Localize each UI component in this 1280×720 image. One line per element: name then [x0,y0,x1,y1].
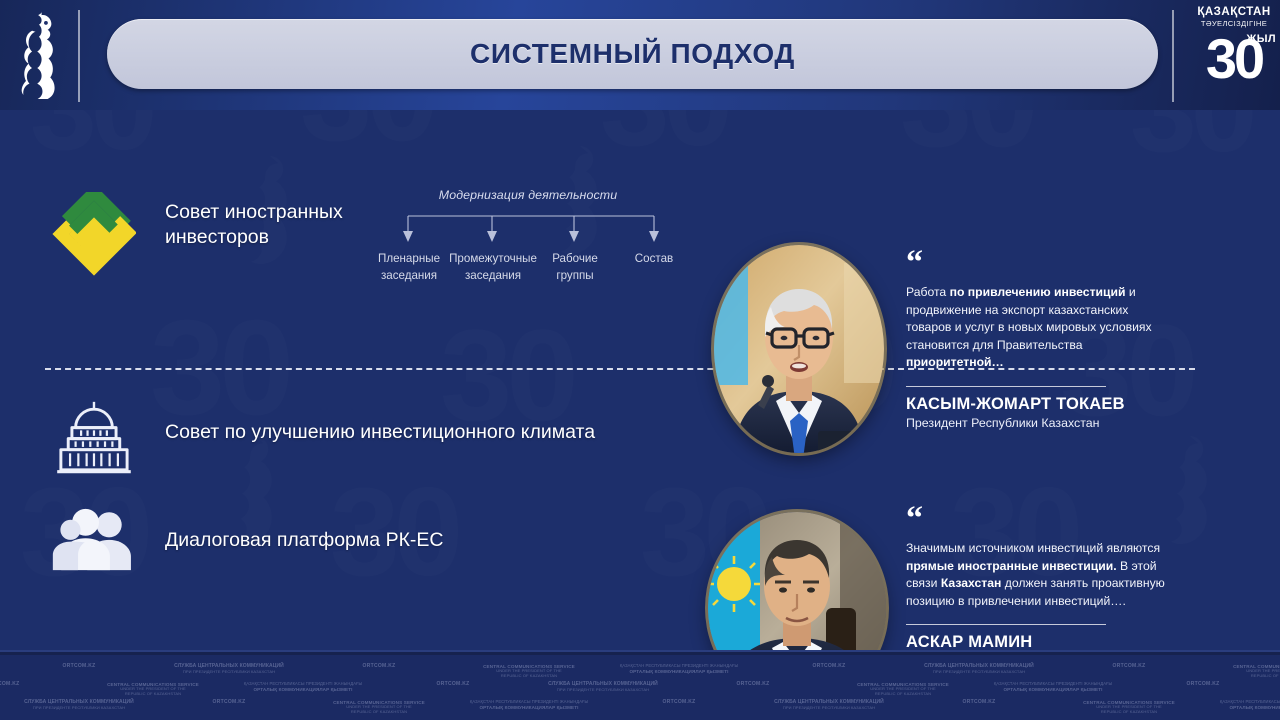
footer-watermark-cell: ORTCOM.KZ [12,664,146,670]
diagram-branch-3-line1: Состав [618,250,690,267]
header-divider-right [1172,10,1174,102]
quote-rule [906,624,1106,625]
meander-diamond-icon [52,192,136,276]
footer-watermark-cell: ORTCOM.KZ [612,700,746,706]
footer-watermark-cell: СЛУЖБА ЦЕНТРАЛЬНЫХ КОММУНИКАЦИЙПРИ ПРЕЗИ… [162,664,296,675]
diagram-branch-2-line1: Рабочие [540,250,610,267]
diagram-title: Модернизация деятельности [368,188,688,202]
footer-watermark-cell: ҚАЗАҚСТАН РЕСПУБЛИКАСЫ ПРЕЗИДЕНТІ ЖАНЫНД… [612,664,746,674]
footer-watermark-cell: ORTCOM.KZ [386,682,520,688]
diagram-branch-3: Состав [618,250,690,267]
footer-repeat-grid: ҚАЗАҚСТАН РЕСПУБЛИКАСЫ ПРЕЗИДЕНТІ ЖАНЫНД… [0,656,1280,720]
header-divider-left [78,10,80,102]
footer-watermark-cell: ORTCOM.KZ [1062,664,1196,670]
slide-header: СИСТЕМНЫЙ ПОДХОД ҚАЗАҚСТАН ТӘУЕЛСІЗДІГІН… [0,0,1280,110]
footer-watermark-cell: СЛУЖБА ЦЕНТРАЛЬНЫХ КОММУНИКАЦИЙПРИ ПРЕЗИ… [762,700,896,711]
quote-part: Работа [906,285,950,299]
footer-watermark-cell: ORTCOM.KZ [686,682,820,688]
item-label-line2: инвесторов [165,225,395,250]
diagram-branch-2: Рабочие группы [540,250,610,284]
quote-author-role: Президент Республики Казахстан [906,416,1174,430]
footer-watermark-cell: ORTCOM.KZ [0,682,70,688]
diagram-branch-1-line1: Промежуточные [440,250,546,267]
diagram-branch-2-line2: группы [540,267,610,284]
tokayev-quote: “ Работа по привлечению инвестиций и про… [906,252,1174,430]
mamin-quote: “ Значимым источником инвестиций являютс… [906,508,1174,668]
people-group-icon [52,508,136,572]
diagram-branch-labels: Пленарные заседания Промежуточные заседа… [368,250,688,298]
anniversary-logo: ҚАЗАҚСТАН ТӘУЕЛСІЗДІГІНЕ 30 ЖЫЛ [1190,6,1278,104]
slide-title-pill: СИСТЕМНЫЙ ПОДХОД [107,19,1158,89]
footer-watermark-cell: CENTRAL COMMUNICATIONS SERVICEUNDER THE … [462,664,596,679]
footer-watermark-cell: ORTCOM.KZ [912,700,1046,706]
portrait-tokayev [714,245,884,453]
anniversary-number-wrap: 30 ЖЫЛ [1190,30,1278,94]
quote-author-name: КАСЫМ-ЖОМАРТ ТОКАЕВ [906,395,1174,414]
footer-watermark-cell: СЛУЖБА ЦЕНТРАЛЬНЫХ КОММУНИКАЦИЙПРИ ПРЕЗИ… [12,700,146,711]
footer-watermark-strip: ҚАЗАҚСТАН РЕСПУБЛИКАСЫ ПРЕЗИДЕНТІ ЖАНЫНД… [0,650,1280,720]
anniversary-suffix: ЖЫЛ [1246,33,1276,45]
modernization-diagram: Модернизация деятельности [368,188,688,298]
footer-watermark-cell: ҚАЗАҚСТАН РЕСПУБЛИКАСЫ ПРЕЗИДЕНТІ ЖАНЫНД… [986,682,1120,692]
footer-watermark-cell: CENTRAL COMMUNICATIONS SERVICEUNDER THE … [836,682,970,697]
footer-watermark-cell: CENTRAL COMMUNICATIONS SERVICEUNDER THE … [312,700,446,715]
footer-watermark-cell: ORTCOM.KZ [162,700,296,706]
footer-watermark-cell: СЛУЖБА ЦЕНТРАЛЬНЫХ КОММУНИКАЦИЙПРИ ПРЕЗИ… [912,664,1046,675]
slide-root: 30 30 30 30 30 30 30 30 30 30 30 30 30 [0,0,1280,720]
footer-watermark-cell: ORTCOM.KZ [762,664,896,670]
footer-watermark-cell: CENTRAL COMMUNICATIONS SERVICEUNDER THE … [1212,664,1280,679]
footer-watermark-cell: ҚАЗАҚСТАН РЕСПУБЛИКАСЫ ПРЕЗИДЕНТІ ЖАНЫНД… [462,700,596,710]
slide-content: Совет иностранных инвесторов Модернизаци… [0,110,1280,650]
capitol-building-icon [48,400,140,476]
footer-top-rule [0,652,1280,655]
diagram-branch-1-line2: заседания [440,267,546,284]
footer-watermark-cell: ORTCOM.KZ [1136,682,1270,688]
quote-mark-icon: “ [906,252,1174,274]
quote-text: Значимым источником инвестиций являются … [906,540,1174,610]
quote-part: Значимым источником инвестиций являются [906,541,1160,555]
item-label-line1: Совет иностранных [165,200,395,225]
item-label-kz-eu-dialogue-platform: Диалоговая платформа РК-ЕС [165,528,625,553]
item-label-foreign-investors-council: Совет иностранных инвесторов [165,200,395,250]
diagram-branch-1: Промежуточные заседания [440,250,546,284]
footer-watermark-cell: ORTCOM.KZ [312,664,446,670]
footer-watermark-cell: CENTRAL COMMUNICATIONS SERVICEUNDER THE … [1062,700,1196,715]
item-label-investment-climate-council: Совет по улучшению инвестиционного клима… [165,420,725,445]
quote-text: Работа по привлечению инвестиций и продв… [906,284,1174,372]
quote-part-bold: по привлечению инвестиций [950,285,1126,299]
page-title: СИСТЕМНЫЙ ПОДХОД [470,38,795,70]
anniversary-line1: ҚАЗАҚСТАН [1190,6,1278,19]
footer-watermark-cell: ҚАЗАҚСТАН РЕСПУБЛИКАСЫ ПРЕЗИДЕНТІ ЖАНЫНД… [1212,700,1280,710]
quote-rule [906,386,1106,387]
quote-part-bold: прямые иностранные инвестиции. [906,559,1117,573]
quote-mark-icon: “ [906,508,1174,530]
footer-watermark-cell: СЛУЖБА ЦЕНТРАЛЬНЫХ КОММУНИКАЦИЙПРИ ПРЕЗИ… [536,682,670,693]
quote-part-bold: Казахстан [941,576,1002,590]
diagram-connectors [368,204,688,250]
snow-leopard-emblem-icon [6,6,72,104]
footer-watermark-cell: ҚАЗАҚСТАН РЕСПУБЛИКАСЫ ПРЕЗИДЕНТІ ЖАНЫНД… [236,682,370,692]
quote-part-bold: приоритетной… [906,355,1004,369]
footer-watermark-cell: CENTRAL COMMUNICATIONS SERVICEUNDER THE … [86,682,220,697]
